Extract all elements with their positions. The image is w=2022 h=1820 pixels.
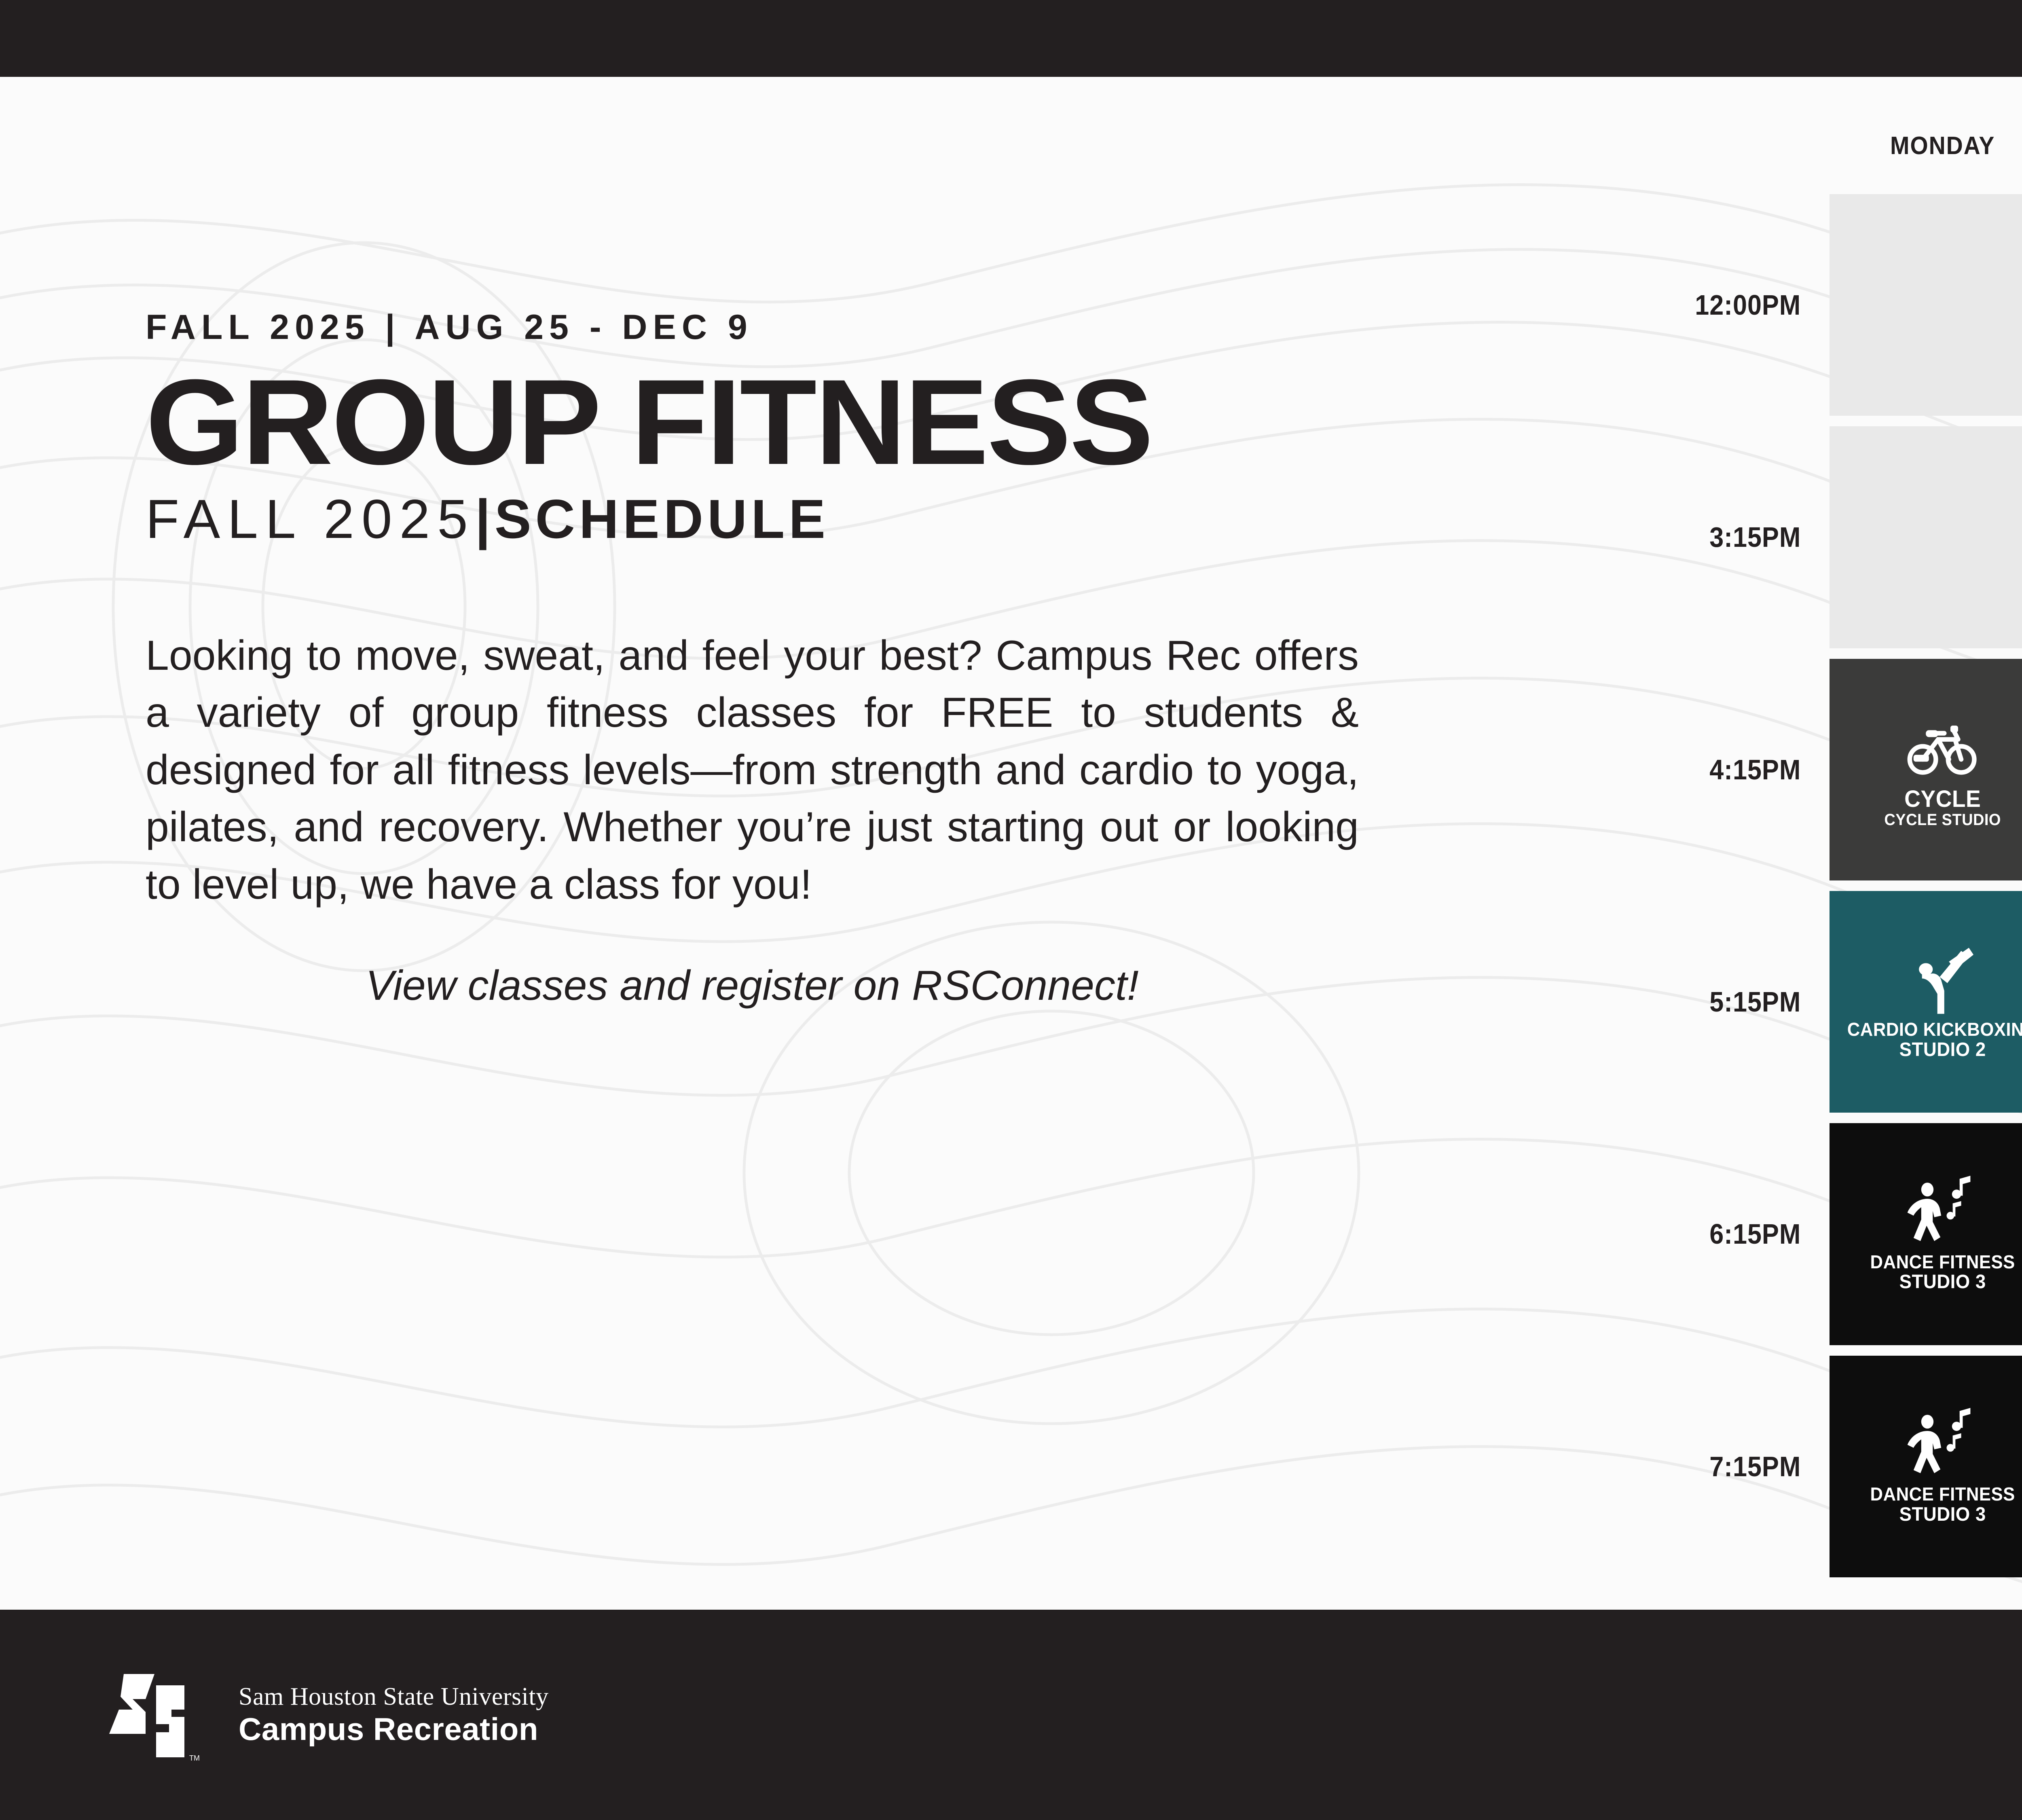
time-label-515pm: 5:15PM	[1631, 891, 1820, 1113]
time-label-1200pm: 12:00PM	[1631, 194, 1820, 416]
dance-icon	[1833, 1408, 2022, 1485]
top-bar	[0, 0, 2022, 77]
class-room: STUDIO 3	[1838, 1504, 2022, 1525]
schedule-cell-monday-415pm[interactable]: CYCLECYCLE STUDIO	[1830, 659, 2022, 880]
class-card-labels: DANCE FITNESSSTUDIO 3	[1833, 1253, 2022, 1293]
footer-bar: TM Sam Houston State University Campus R…	[0, 1610, 2022, 1820]
page-title: GROUP FITNESS	[146, 366, 1516, 478]
class-name: CYCLE	[1838, 787, 2022, 811]
class-room: STUDIO 2	[1838, 1039, 2022, 1060]
kickboxing-icon	[1833, 943, 2022, 1020]
schedule-cell-monday-1200pm	[1830, 194, 2022, 416]
class-card-labels: CARDIO KICKBOXINGSTUDIO 2	[1833, 1020, 2022, 1060]
class-card[interactable]: CARDIO KICKBOXINGSTUDIO 2	[1830, 891, 2022, 1113]
day-header-row: MONDAYTUESDAYWEDNESDAYTHURSDAYFRIDAYSATU…	[1610, 121, 2022, 170]
class-card-labels: CYCLECYCLE STUDIO	[1833, 787, 2022, 829]
schedule-body: 12:00PM YOGASTUDIO 3 PILATESSTUDIO 3 YOG…	[1610, 194, 2022, 1577]
cycle-icon	[1833, 710, 2022, 787]
flyer-page: FALL 2025 | AUG 25 - DEC 9 GROUP FITNESS…	[0, 0, 2022, 1820]
page-subtitle: FALL 2025|SCHEDULE	[146, 491, 1464, 546]
class-room: STUDIO 3	[1838, 1272, 2022, 1293]
schedule-cell-monday-715pm[interactable]: DANCE FITNESSSTUDIO 3	[1830, 1356, 2022, 1577]
class-card-labels: DANCE FITNESSSTUDIO 3	[1833, 1485, 2022, 1525]
term-dates-eyebrow: FALL 2025 | AUG 25 - DEC 9	[146, 307, 1464, 347]
sh-monogram-icon: TM	[85, 1664, 206, 1765]
promo-body-text: Looking to move, sweat, and feel your be…	[146, 627, 1359, 913]
class-name: DANCE FITNESS	[1838, 1485, 2022, 1504]
schedule-cell-monday-315pm	[1830, 426, 2022, 648]
shsu-campus-rec-logo: TM Sam Houston State University Campus R…	[85, 1664, 549, 1765]
time-label-315pm: 3:15PM	[1631, 426, 1820, 648]
svg-text:TM: TM	[189, 1754, 200, 1762]
subtitle-term: FALL 2025	[146, 488, 475, 550]
empty-slot	[1830, 426, 2022, 648]
class-card[interactable]: DANCE FITNESSSTUDIO 3	[1830, 1356, 2022, 1577]
subtitle-divider: |	[475, 488, 495, 550]
class-card[interactable]: DANCE FITNESSSTUDIO 3	[1830, 1123, 2022, 1345]
schedule-cell-monday-515pm[interactable]: CARDIO KICKBOXINGSTUDIO 2	[1830, 891, 2022, 1113]
university-name: Sam Houston State University	[239, 1682, 549, 1711]
empty-slot	[1830, 194, 2022, 416]
schedule-grid: MONDAYTUESDAYWEDNESDAYTHURSDAYFRIDAYSATU…	[1610, 77, 2022, 1610]
dance-icon	[1833, 1176, 2022, 1253]
class-card[interactable]: CYCLECYCLE STUDIO	[1830, 659, 2022, 880]
time-label-615pm: 6:15PM	[1631, 1123, 1820, 1345]
department-name: Campus Recreation	[239, 1711, 549, 1748]
time-column-header	[1610, 121, 1820, 170]
subtitle-schedule: SCHEDULE	[495, 488, 829, 550]
time-label-715pm: 7:15PM	[1631, 1356, 1820, 1577]
schedule-cell-monday-615pm[interactable]: DANCE FITNESSSTUDIO 3	[1830, 1123, 2022, 1345]
promo-panel: FALL 2025 | AUG 25 - DEC 9 GROUP FITNESS…	[0, 77, 1610, 1610]
time-label-415pm: 4:15PM	[1631, 659, 1820, 880]
class-name: DANCE FITNESS	[1838, 1253, 2022, 1272]
day-header-monday: MONDAY	[1838, 121, 2022, 170]
class-room: CYCLE STUDIO	[1838, 811, 2022, 829]
promo-cta-text: View classes and register on RSConnect!	[146, 962, 1359, 1010]
class-name: CARDIO KICKBOXING	[1838, 1020, 2022, 1039]
